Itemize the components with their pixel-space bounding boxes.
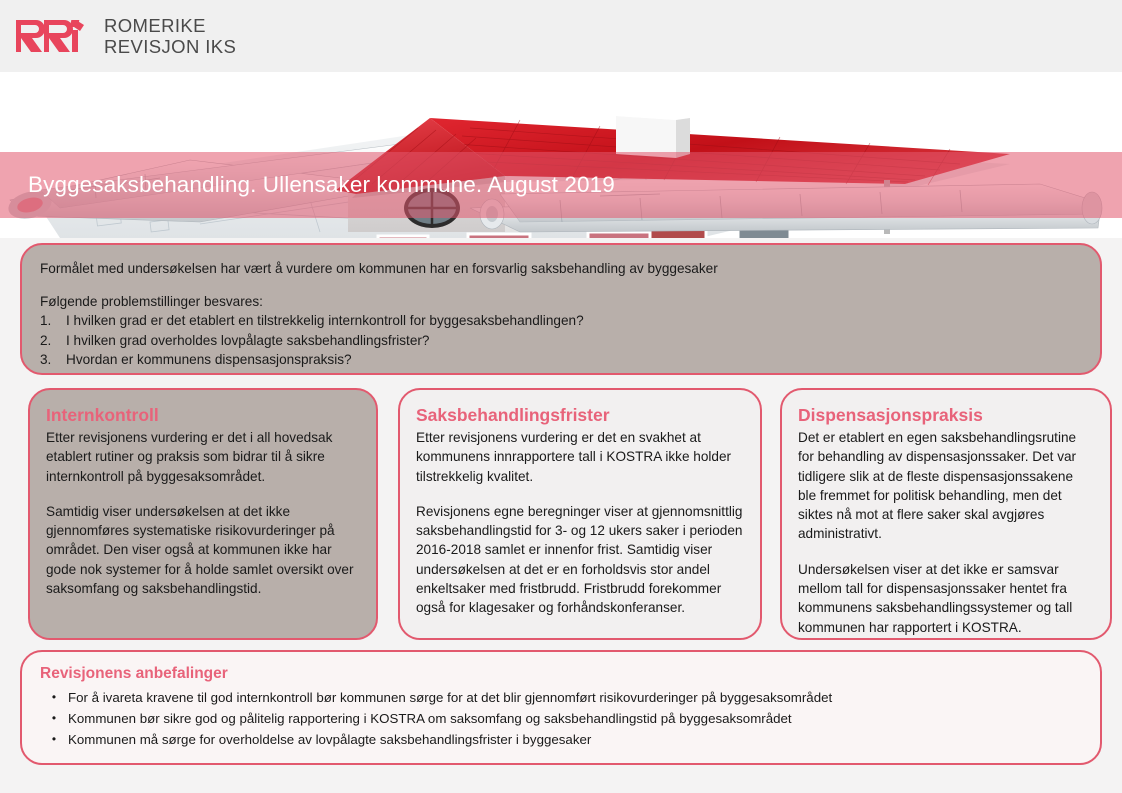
card-paragraph: Undersøkelsen viser at det ikke er samsv… [798, 560, 1094, 637]
list-item-text: For å ivareta kravene til god internkont… [68, 687, 832, 708]
card-paragraph: Etter revisjonens vurdering er det en sv… [416, 428, 744, 486]
list-item-text: Kommunen bør sikre god og pålitelig rapp… [68, 708, 792, 729]
brand-logo: ROMERIKE REVISJON IKS [14, 15, 236, 57]
list-item: • Kommunen må sørge for overholdelse av … [40, 729, 1082, 750]
purpose-subheading: Følgende problemstillinger besvares: [40, 292, 1082, 311]
purpose-intro: Formålet med undersøkelsen har vært å vu… [40, 259, 1082, 278]
page-header: ROMERIKE REVISJON IKS [0, 0, 1122, 72]
window-side-1 [468, 234, 530, 238]
card-title: Saksbehandlingsfrister [416, 404, 744, 426]
list-item: 1. I hvilken grad er det etablert en til… [40, 311, 1082, 331]
list-item-number: 3. [40, 350, 66, 370]
purpose-question-list: 1. I hvilken grad er det etablert en til… [40, 311, 1082, 370]
finding-card-dispensasjonspraksis: Dispensasjonspraksis Det er etablert en … [780, 388, 1112, 640]
rri-logo-icon [14, 16, 92, 56]
card-title: Internkontroll [46, 404, 360, 426]
brand-name-line2: REVISJON IKS [104, 36, 236, 57]
list-item-number: 2. [40, 331, 66, 351]
card-paragraph: Revisjonens egne beregninger viser at gj… [416, 502, 744, 618]
recommendations-title: Revisjonens anbefalinger [40, 664, 1082, 684]
hero-title-band: Byggesaksbehandling. Ullensaker kommune.… [0, 152, 1122, 218]
list-item-text: Hvordan er kommunens dispensasjonspraksi… [66, 350, 352, 370]
list-item: • For å ivareta kravene til god internko… [40, 687, 1082, 708]
list-item-text: I hvilken grad er det etablert en tilstr… [66, 311, 584, 331]
bullet-icon: • [40, 729, 68, 750]
bullet-icon: • [40, 687, 68, 708]
recommendations-card: Revisjonens anbefalinger • For å ivareta… [20, 650, 1102, 765]
list-item: • Kommunen bør sikre god og pålitelig ra… [40, 708, 1082, 729]
finding-card-internkontroll: Internkontroll Etter revisjonens vurderi… [28, 388, 378, 640]
list-item-text: Kommunen må sørge for overholdelse av lo… [68, 729, 591, 750]
list-item: 2. I hvilken grad overholdes lovpålagte … [40, 331, 1082, 351]
recommendations-list: • For å ivareta kravene til god internko… [40, 687, 1082, 750]
bullet-icon: • [40, 708, 68, 729]
window-front-left [378, 236, 428, 238]
list-item: 3. Hvordan er kommunens dispensasjonspra… [40, 350, 1082, 370]
page-title: Byggesaksbehandling. Ullensaker kommune.… [28, 172, 615, 198]
list-item-text: I hvilken grad overholdes lovpålagte sak… [66, 331, 429, 351]
spacer [40, 278, 1082, 292]
card-paragraph: Samtidig viser undersøkelsen at det ikke… [46, 502, 360, 598]
list-item-number: 1. [40, 311, 66, 331]
finding-card-saksbehandlingsfrister: Saksbehandlingsfrister Etter revisjonens… [398, 388, 762, 640]
window-side-2 [588, 232, 650, 238]
card-paragraph: Etter revisjonens vurdering er det i all… [46, 428, 360, 486]
card-title: Dispensasjonspraksis [798, 404, 1094, 426]
card-paragraph: Det er etablert en egen saksbehandlingsr… [798, 428, 1094, 544]
brand-name-line1: ROMERIKE [104, 15, 236, 36]
purpose-card: Formålet med undersøkelsen har vært å vu… [20, 243, 1102, 375]
brand-name: ROMERIKE REVISJON IKS [104, 15, 236, 57]
